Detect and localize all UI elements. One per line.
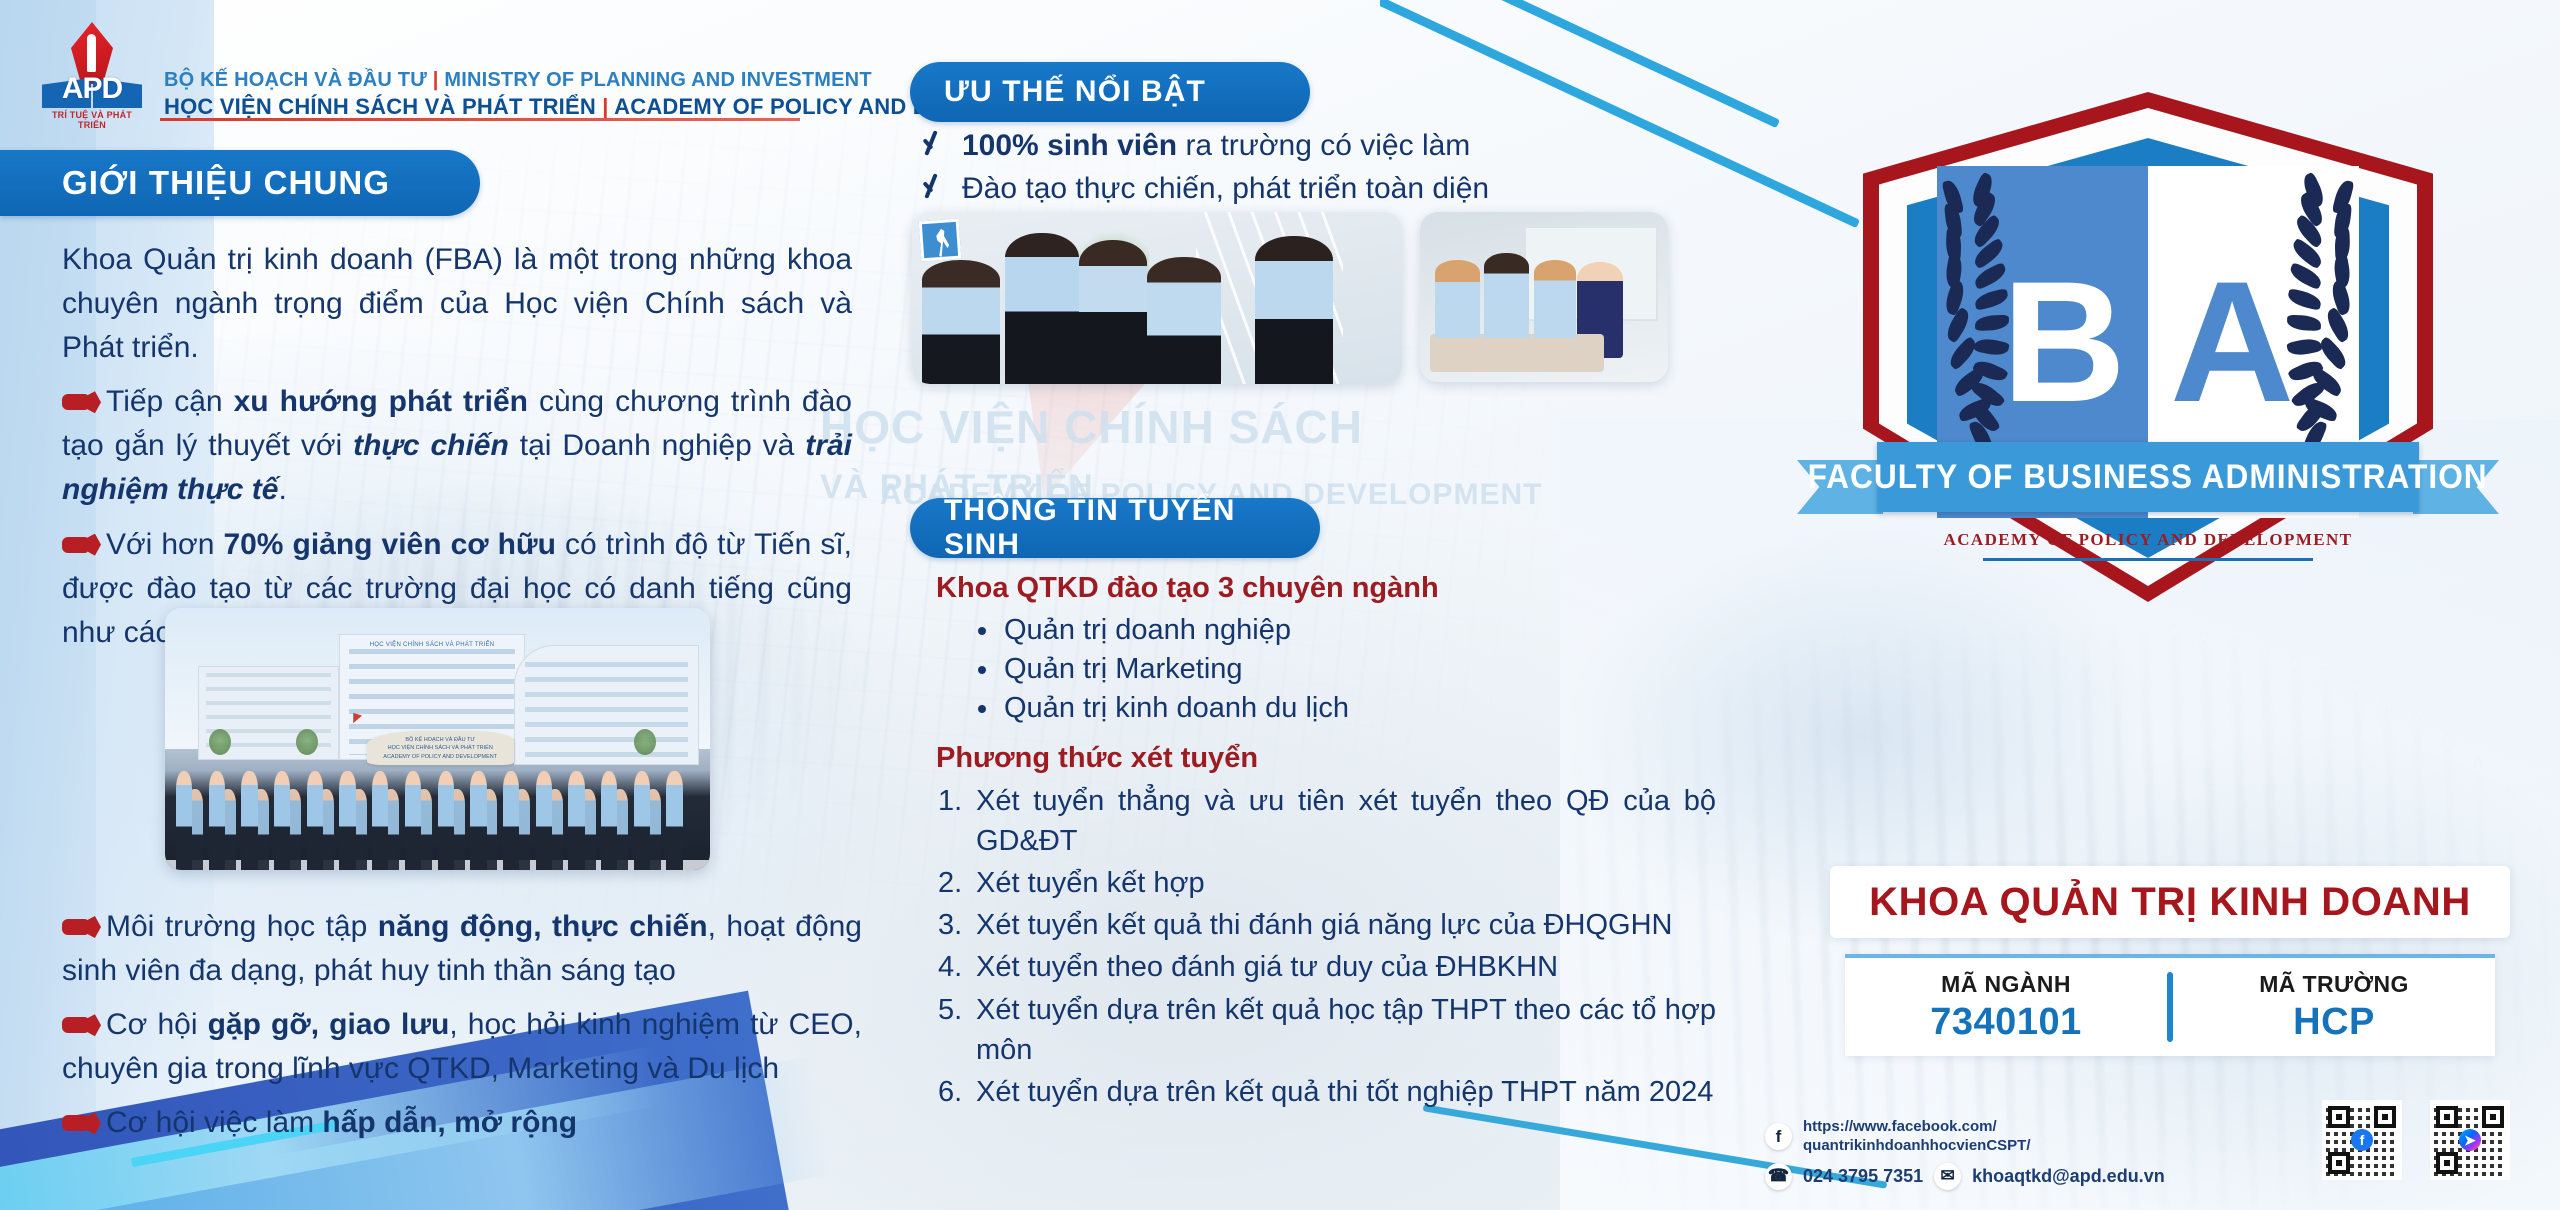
majors-list: Quản trị doanh nghiệp Quản trị Marketing… xyxy=(978,611,1716,728)
methods-heading: Phương thức xét tuyển xyxy=(936,742,1716,775)
method-item: 4.Xét tuyển theo đánh giá tư duy của ĐHB… xyxy=(936,947,1716,987)
b1-italic-1: thực chiến xyxy=(353,429,509,462)
photo-building-sign: HỌC VIỆN CHÍNH SÁCH VÀ PHÁT TRIỂN xyxy=(329,642,536,648)
b3-bold: năng động, thực chiến xyxy=(378,910,708,943)
emblem-ribbon: FACULTY OF BUSINESS ADMINISTRATION xyxy=(1877,442,2419,512)
stone-line-2: HỌC VIỆN CHÍNH SÁCH VÀ PHÁT TRIỂN xyxy=(367,745,514,751)
laurel-left-icon xyxy=(1949,196,2023,446)
pointing-hand-icon xyxy=(62,1112,100,1134)
advantage-1-bold: 100% sinh viên xyxy=(962,129,1177,162)
stone-line-1: BỘ KẾ HOẠCH VÀ ĐẦU TƯ xyxy=(367,737,514,743)
logo-motto: TRÍ TUỆ VÀ PHÁT TRIỂN xyxy=(38,110,146,130)
section-heading-admission: THÔNG TIN TUYỂN SINH xyxy=(910,498,1320,558)
section-heading-introduction: GIỚI THIỆU CHUNG xyxy=(0,150,480,216)
method-text: Xét tuyển theo đánh giá tư duy của ĐHBKH… xyxy=(976,951,1558,983)
facebook-url[interactable]: https://www.facebook.com/ quantrikinhdoa… xyxy=(1803,1118,2031,1156)
section-heading-advantages-label: ƯU THẾ NỔI BẬT xyxy=(944,75,1206,109)
advantage-item: Đào tạo thực chiến, phát triển toàn diện xyxy=(920,171,1540,206)
email-address[interactable]: khoaqtkd@apd.edu.vn xyxy=(1972,1165,2165,1188)
introduction-body-2: Môi trường học tập năng động, thực chiến… xyxy=(62,905,862,1155)
section-heading-advantages: ƯU THẾ NỔI BẬT xyxy=(910,62,1310,122)
phone-icon: ☎ xyxy=(1765,1163,1792,1190)
department-name-label: KHOA QUẢN TRỊ KINH DOANH xyxy=(1869,880,2471,925)
b5-bold: hấp dẫn, mở rộng xyxy=(322,1106,577,1139)
major-item: Quản trị Marketing xyxy=(978,650,1716,689)
major-item: Quản trị doanh nghiệp xyxy=(978,611,1716,650)
advantages-list: 100% sinh viên ra trường có việc làm Đào… xyxy=(920,128,1540,215)
section-heading-admission-label: THÔNG TIN TUYỂN SINH xyxy=(944,494,1320,562)
advantage-item: 100% sinh viên ra trường có việc làm xyxy=(920,128,1540,163)
majors-heading: Khoa QTKD đào tạo 3 chuyên ngành xyxy=(936,572,1716,605)
school-code-value: HCP xyxy=(2293,1001,2375,1044)
watermark-line-1: HỌC VIỆN CHÍNH SÁCH xyxy=(820,400,1363,454)
major-code-label: MÃ NGÀNH xyxy=(1941,971,2071,998)
separator-2: | xyxy=(602,94,608,119)
academy-vn: HỌC VIỆN CHÍNH SÁCH VÀ PHÁT TRIỂN xyxy=(164,94,596,119)
advantage-text: 100% sinh viên ra trường có việc làm xyxy=(962,128,1470,163)
b1-mid2: tại Doanh nghiệp và xyxy=(509,429,805,462)
qr-code-messenger[interactable]: ➤ xyxy=(2430,1100,2510,1180)
method-text: Xét tuyển kết hợp xyxy=(976,867,1205,899)
mail-icon: ✉ xyxy=(1934,1163,1961,1190)
photo-crowd xyxy=(165,755,710,870)
messenger-badge-icon: ➤ xyxy=(2459,1129,2481,1151)
ministry-en: MINISTRY OF PLANNING AND INVESTMENT xyxy=(444,69,871,91)
advantage-text: Đào tạo thực chiến, phát triển toàn diện xyxy=(962,171,1489,206)
codes-card: MÃ NGÀNH 7340101 MÃ TRƯỜNG HCP xyxy=(1845,954,2495,1056)
intro-bullet-5: Cơ hội việc làm hấp dẫn, mở rộng xyxy=(62,1101,862,1145)
intro-bullet-4: Cơ hội gặp gỡ, giao lưu, học hỏi kinh ng… xyxy=(62,1003,862,1091)
intro-paragraph: Khoa Quản trị kinh doanh (FBA) là một tr… xyxy=(62,238,852,370)
crosswalk-sign-icon xyxy=(919,219,962,262)
b1-end: . xyxy=(278,473,286,506)
section-heading-introduction-label: GIỚI THIỆU CHUNG xyxy=(62,164,390,202)
facebook-badge-icon: f xyxy=(2351,1129,2373,1151)
school-code-cell: MÃ TRƯỜNG HCP xyxy=(2173,958,2495,1056)
pointing-hand-icon xyxy=(62,534,100,556)
department-name-banner: KHOA QUẢN TRỊ KINH DOANH xyxy=(1830,866,2510,938)
check-icon xyxy=(920,128,948,162)
emblem-subtitle: ACADEMY OF POLICY AND DEVELOPMENT xyxy=(1863,530,2433,550)
poster-canvas: HỌC VIỆN CHÍNH SÁCH VÀ PHÁT TRIỂN ACADEM… xyxy=(0,0,2560,1210)
method-text: Xét tuyển dựa trên kết quả học tập THPT … xyxy=(976,994,1716,1066)
accent-line-1 xyxy=(1386,0,1780,128)
check-icon xyxy=(920,171,948,205)
facebook-row[interactable]: f https://www.facebook.com/ quantrikinhd… xyxy=(1765,1118,2325,1156)
advantage-2-rest: Đào tạo thực chiến, phát triển toàn diện xyxy=(962,172,1489,205)
ministry-vn: BỘ KẾ HOẠCH VÀ ĐẦU TƯ xyxy=(164,69,427,91)
intro-bullet-1: Tiếp cận xu hướng phát triển cùng chương… xyxy=(62,380,852,512)
pointing-hand-icon xyxy=(62,916,100,938)
logo-wordmark: APD xyxy=(46,74,138,104)
b4-bold: gặp gỡ, giao lưu xyxy=(208,1008,450,1041)
phone-number[interactable]: 024 3795 7351 xyxy=(1803,1165,1923,1188)
admission-body: Khoa QTKD đào tạo 3 chuyên ngành Quản tr… xyxy=(936,572,1716,1114)
emblem-ribbon-label: FACULTY OF BUSINESS ADMINISTRATION xyxy=(1808,458,2488,497)
method-item: 6.Xét tuyển dựa trên kết quả thi tốt ngh… xyxy=(936,1072,1716,1112)
method-text: Xét tuyển thẳng và ưu tiên xét tuyển the… xyxy=(976,785,1716,857)
qr-code-group: f ➤ xyxy=(2322,1100,2510,1180)
school-code-label: MÃ TRƯỜNG xyxy=(2259,971,2409,998)
b1-bold: xu hướng phát triển xyxy=(234,385,528,418)
major-code-value: 7340101 xyxy=(1930,1001,2081,1044)
masthead-underline xyxy=(160,118,800,121)
facebook-icon: f xyxy=(1765,1123,1792,1150)
apd-logo-icon: APD TRÍ TUỆ VÀ PHÁT TRIỂN xyxy=(38,22,146,126)
photo-classroom xyxy=(1420,212,1668,382)
major-item: Quản trị kinh doanh du lịch xyxy=(978,689,1716,728)
method-item: 5.Xét tuyển dựa trên kết quả học tập THP… xyxy=(936,990,1716,1070)
method-item: 2.Xét tuyển kết hợp xyxy=(936,863,1716,903)
b4-pre: Cơ hội xyxy=(106,1008,208,1041)
separator-1: | xyxy=(433,69,439,91)
b2-bold: 70% giảng viên cơ hữu xyxy=(223,528,556,561)
pointing-hand-icon xyxy=(62,391,100,413)
faculty-emblem: B A xyxy=(1863,92,2433,602)
methods-list: 1.Xét tuyển thẳng và ưu tiên xét tuyển t… xyxy=(936,781,1716,1111)
method-item: 3.Xét tuyển kết quả thi đánh giá năng lự… xyxy=(936,905,1716,945)
method-item: 1.Xét tuyển thẳng và ưu tiên xét tuyển t… xyxy=(936,781,1716,861)
b1-pre: Tiếp cận xyxy=(106,385,234,418)
photo-strip xyxy=(912,212,1668,384)
facebook-url-line-2: quantrikinhdoanhhocvienCSPT/ xyxy=(1803,1137,2031,1156)
advantage-1-rest: ra trường có việc làm xyxy=(1177,129,1470,162)
laurel-right-icon xyxy=(2273,196,2347,446)
b5-pre: Cơ hội việc làm xyxy=(106,1106,322,1139)
intro-bullet-3: Môi trường học tập năng động, thực chiến… xyxy=(62,905,862,993)
major-code-cell: MÃ NGÀNH 7340101 xyxy=(1845,958,2167,1056)
qr-code-facebook[interactable]: f xyxy=(2322,1100,2402,1180)
photo-students-campus xyxy=(912,212,1402,384)
phone-mail-row: ☎ 024 3795 7351 ✉ khoaqtkd@apd.edu.vn xyxy=(1765,1163,2325,1190)
photo-building-right xyxy=(514,645,699,766)
method-text: Xét tuyển kết quả thi đánh giá năng lực … xyxy=(976,909,1672,941)
pointing-hand-icon xyxy=(62,1014,100,1036)
contact-block: f https://www.facebook.com/ quantrikinhd… xyxy=(1765,1118,2325,1197)
method-text: Xét tuyển dựa trên kết quả thi tốt nghiệ… xyxy=(976,1076,1713,1108)
b2-pre: Với hơn xyxy=(106,528,223,561)
photo-student-group: HỌC VIỆN CHÍNH SÁCH VÀ PHÁT TRIỂN BỘ KẾ … xyxy=(165,608,710,870)
introduction-body: Khoa Quản trị kinh doanh (FBA) là một tr… xyxy=(62,238,852,665)
emblem-underline xyxy=(1983,558,2313,561)
b3-pre: Môi trường học tập xyxy=(106,910,378,943)
facebook-url-line-1: https://www.facebook.com/ xyxy=(1803,1118,2031,1137)
